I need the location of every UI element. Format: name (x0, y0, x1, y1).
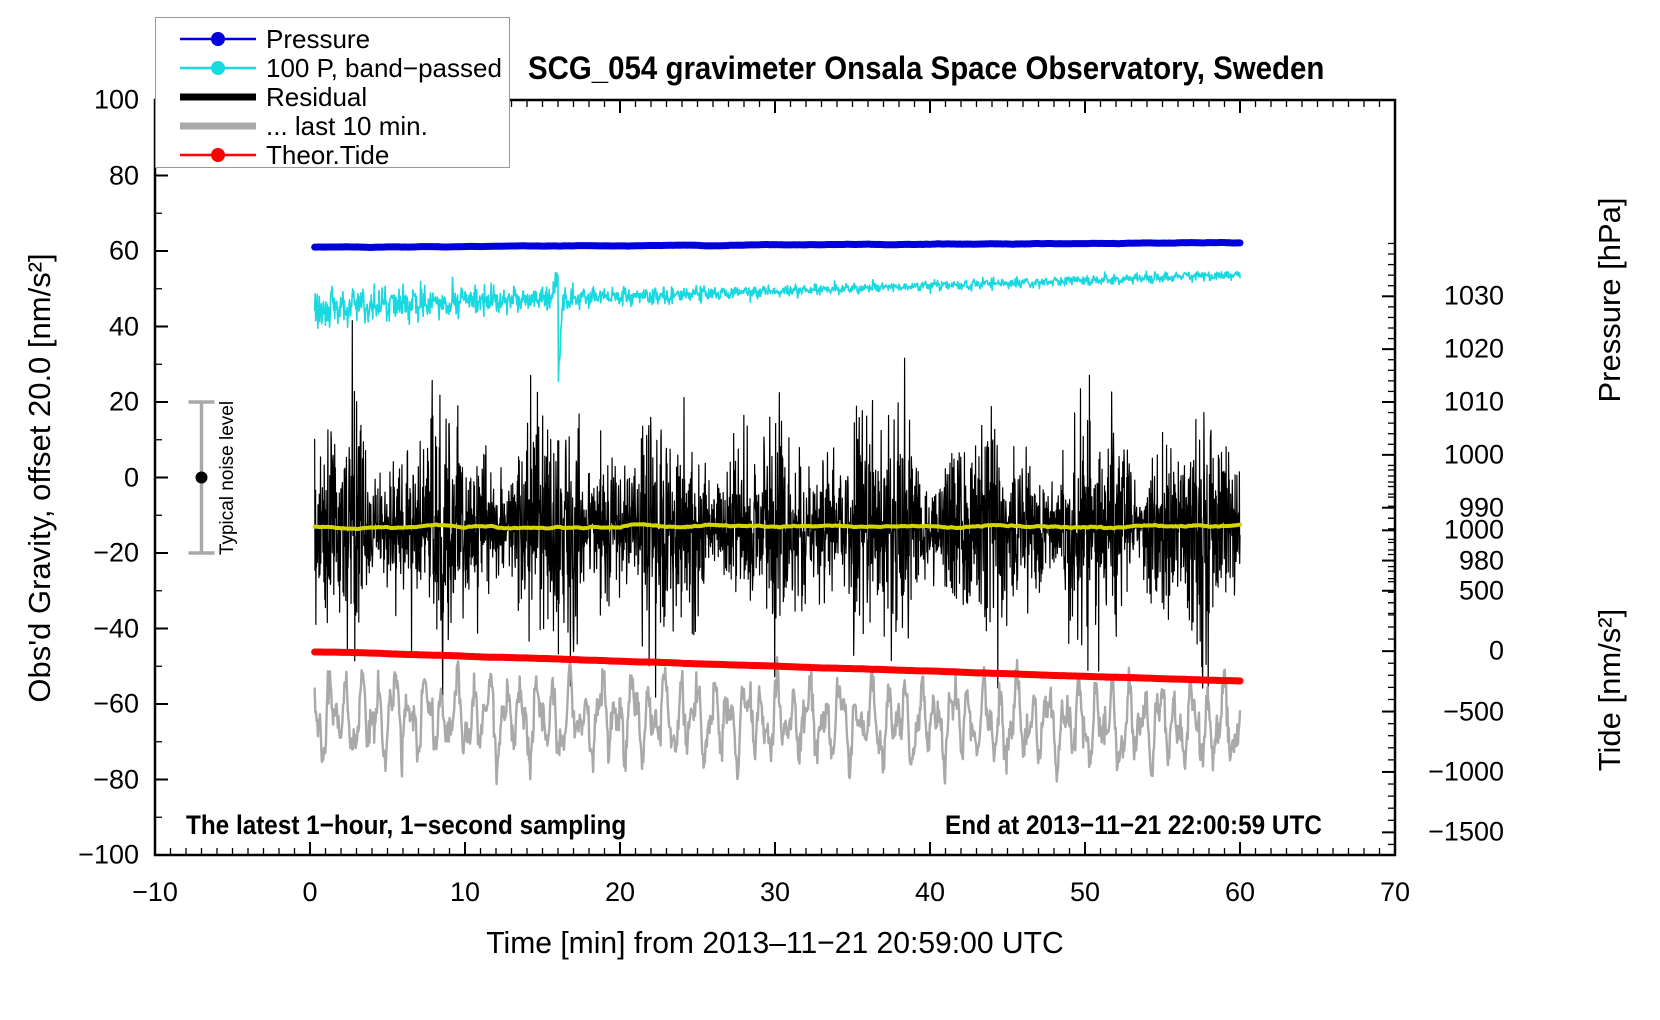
pressure-tick-label: 1000 (1409, 439, 1504, 470)
legend-swatch-icon (178, 82, 258, 112)
tide-tick-label: −1500 (1409, 817, 1504, 848)
y-tick-label: −40 (19, 613, 139, 644)
x-tick-label: 60 (1225, 877, 1255, 908)
tide-tick-label: 1000 (1409, 515, 1504, 546)
y-axis-title-tide: Tide [nm/s²] (1592, 609, 1628, 772)
legend-label: Theor.Tide (266, 140, 389, 170)
x-tick-label: 40 (915, 877, 945, 908)
chart-legend: Pressure100 P, band−passedResidual... la… (155, 17, 510, 168)
legend-swatch-icon (178, 24, 258, 54)
y-axis-title-pressure: Pressure [hPa] (1592, 197, 1628, 402)
noise-level-annotation-label: Typical noise level (217, 400, 239, 554)
x-tick-label: 10 (450, 877, 480, 908)
y-tick-label: −60 (19, 689, 139, 720)
tide-tick-label: 0 (1409, 636, 1504, 667)
legend-swatch-icon (178, 111, 258, 141)
legend-item: Pressure (156, 24, 509, 54)
legend-swatch-icon (178, 53, 258, 83)
y-tick-label: −100 (19, 840, 139, 871)
legend-item: Residual (156, 82, 509, 112)
tide-tick-label: 500 (1409, 575, 1504, 606)
gravimeter-chart-page: Pressure100 P, band−passedResidual... la… (0, 0, 1660, 1020)
footer-note-end-time: End at 2013−11−21 22:00:59 UTC (945, 810, 1322, 841)
x-tick-label: 50 (1070, 877, 1100, 908)
footer-note-sampling: The latest 1−hour, 1−second sampling (186, 810, 626, 841)
pressure-tick-label: 1010 (1409, 387, 1504, 418)
legend-item: 100 P, band−passed (156, 53, 509, 83)
chart-title: SCG_054 gravimeter Onsala Space Observat… (528, 50, 1324, 87)
legend-label: ... last 10 min. (266, 111, 428, 141)
x-tick-label: 70 (1380, 877, 1410, 908)
y-tick-label: 60 (19, 236, 139, 267)
legend-swatch-icon (178, 140, 258, 170)
pressure-tick-label: 1030 (1409, 281, 1504, 312)
x-tick-label: 0 (302, 877, 317, 908)
legend-item: ... last 10 min. (156, 111, 509, 141)
y-tick-label: 40 (19, 311, 139, 342)
legend-label: Pressure (266, 24, 370, 54)
legend-item: Theor.Tide (156, 140, 509, 170)
y-tick-label: 80 (19, 160, 139, 191)
y-tick-label: −80 (19, 764, 139, 795)
y-tick-label: 0 (19, 462, 139, 493)
x-tick-label: 20 (605, 877, 635, 908)
legend-label: 100 P, band−passed (266, 53, 502, 83)
y-tick-label: 100 (19, 85, 139, 116)
tide-tick-label: −1000 (1409, 756, 1504, 787)
x-tick-label: 30 (760, 877, 790, 908)
legend-label: Residual (266, 82, 367, 112)
x-tick-label: −10 (132, 877, 178, 908)
x-axis-title: Time [min] from 2013–11−21 20:59:00 UTC (486, 925, 1063, 961)
pressure-tick-label: 980 (1409, 545, 1504, 576)
y-tick-label: −20 (19, 538, 139, 569)
y-tick-label: 20 (19, 387, 139, 418)
pressure-tick-label: 1020 (1409, 334, 1504, 365)
tide-tick-label: −500 (1409, 696, 1504, 727)
